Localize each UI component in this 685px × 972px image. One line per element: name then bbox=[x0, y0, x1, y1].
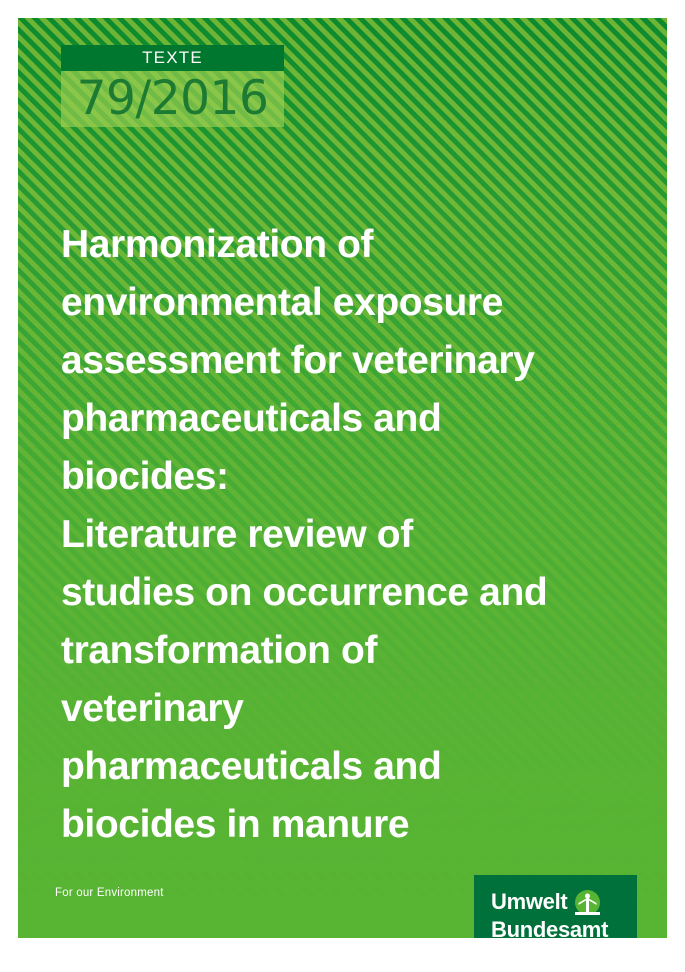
subtitle-line: Literature review of bbox=[61, 506, 641, 564]
title-line: Harmonization of bbox=[61, 216, 641, 274]
subtitle-line: studies on occurrence and bbox=[61, 564, 641, 622]
subtitle-line: veterinary bbox=[61, 680, 641, 738]
series-label: TEXTE bbox=[142, 48, 203, 67]
logo-word-bundesamt: Bundesamt bbox=[491, 917, 608, 938]
umwelt-bundesamt-logo: Umwelt Bundesamt bbox=[474, 875, 637, 938]
series-badge-bar: TEXTE bbox=[61, 45, 284, 71]
cover-artwork-area: TEXTE 79/2016 Harmonization of environme… bbox=[18, 18, 667, 938]
page-title: Harmonization of environmental exposure … bbox=[61, 216, 641, 854]
logo-row-top: Umwelt bbox=[491, 889, 627, 915]
logo-word-umwelt: Umwelt bbox=[491, 889, 567, 915]
logo-row-bottom: Bundesamt bbox=[491, 917, 627, 938]
series-badge: TEXTE 79/2016 bbox=[61, 45, 284, 127]
issue-number: 79/2016 bbox=[61, 71, 284, 127]
subtitle-line: biocides in manure bbox=[61, 796, 641, 854]
tagline: For our Environment bbox=[55, 887, 164, 899]
title-line: pharmaceuticals and bbox=[61, 390, 641, 448]
uba-circle-figure-icon bbox=[575, 890, 600, 915]
title-line: biocides: bbox=[61, 448, 641, 506]
document-cover-page: TEXTE 79/2016 Harmonization of environme… bbox=[0, 0, 685, 972]
title-line: assessment for veterinary bbox=[61, 332, 641, 390]
title-line: environmental exposure bbox=[61, 274, 641, 332]
subtitle-line: transformation of bbox=[61, 622, 641, 680]
logo-inner: Umwelt Bundesamt bbox=[491, 889, 627, 938]
series-badge-body: 79/2016 bbox=[61, 71, 284, 127]
subtitle-line: pharmaceuticals and bbox=[61, 738, 641, 796]
